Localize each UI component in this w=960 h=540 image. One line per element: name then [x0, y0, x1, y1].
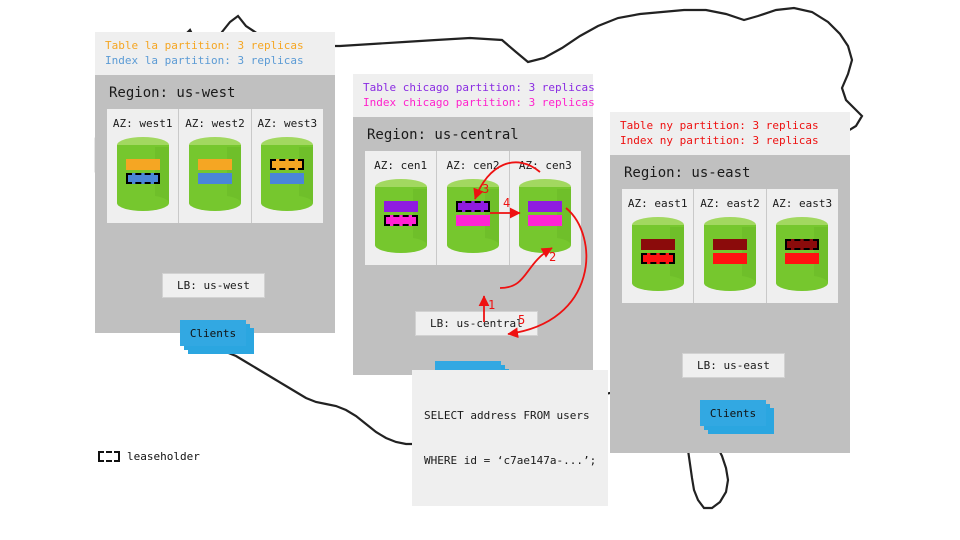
az-west1[interactable]: AZ: west1: [107, 109, 179, 223]
replica-table-west1: [126, 159, 160, 170]
az-east2-label: AZ: east2: [694, 197, 765, 210]
clients-us-west[interactable]: Clients: [180, 320, 246, 346]
az-east1-label: AZ: east1: [622, 197, 693, 210]
node-cen2[interactable]: [447, 179, 499, 253]
region-us-east-table-line: Table ny partition: 3 replicas: [620, 118, 840, 133]
replica-table-east3: [785, 239, 819, 250]
region-us-west-title: Region: us-west: [95, 75, 335, 109]
region-us-east-title: Region: us-east: [610, 155, 850, 189]
region-us-central: Table chicago partition: 3 replicas Inde…: [353, 74, 593, 375]
az-east2[interactable]: AZ: east2: [694, 189, 766, 303]
region-us-central-body: Region: us-central AZ: cen1 AZ: cen2: [353, 117, 593, 375]
replica-index-cen2: [456, 215, 490, 226]
flow-step-3-label: 3: [482, 182, 489, 196]
legend-leaseholder: leaseholder: [98, 450, 200, 463]
legend-leaseholder-label: leaseholder: [127, 450, 200, 463]
cylinder-bottom: [447, 237, 499, 253]
sql-line-1: SELECT address FROM users: [424, 408, 596, 423]
node-west3[interactable]: [261, 137, 313, 211]
cylinder-bottom: [261, 195, 313, 211]
az-cen3[interactable]: AZ: cen3: [510, 151, 581, 265]
region-us-east-index-line: Index ny partition: 3 replicas: [620, 133, 840, 148]
flow-step-5-label: 5: [518, 313, 525, 327]
replica-index-west2: [198, 173, 232, 184]
region-us-west-header: Table la partition: 3 replicas Index la …: [95, 32, 335, 75]
flow-step-4-label: 4: [503, 196, 510, 210]
cylinder-bottom: [375, 237, 427, 253]
clients-card-front: Clients: [700, 400, 766, 426]
replica-table-west3: [270, 159, 304, 170]
az-west2-label: AZ: west2: [179, 117, 250, 130]
az-east1[interactable]: AZ: east1: [622, 189, 694, 303]
az-west3-label: AZ: west3: [252, 117, 323, 130]
replica-table-east1: [641, 239, 675, 250]
region-us-east-body: Region: us-east AZ: east1 AZ: east2: [610, 155, 850, 453]
node-east2[interactable]: [704, 217, 756, 291]
region-us-central-header: Table chicago partition: 3 replicas Inde…: [353, 74, 593, 117]
replica-table-west2: [198, 159, 232, 170]
az-east3[interactable]: AZ: east3: [767, 189, 838, 303]
replica-index-west1: [126, 173, 160, 184]
az-west1-label: AZ: west1: [107, 117, 178, 130]
cylinder-bottom: [189, 195, 241, 211]
region-us-central-az-row: AZ: cen1 AZ: cen2: [365, 151, 581, 265]
cylinder-bottom: [117, 195, 169, 211]
node-east3[interactable]: [776, 217, 828, 291]
replica-table-cen2: [456, 201, 490, 212]
lb-us-east[interactable]: LB: us-east: [682, 353, 785, 378]
clients-card-front: Clients: [180, 320, 246, 346]
replica-index-cen1: [384, 215, 418, 226]
replica-index-east1: [641, 253, 675, 264]
az-cen1[interactable]: AZ: cen1: [365, 151, 437, 265]
az-cen2-label: AZ: cen2: [437, 159, 508, 172]
diagram-canvas: Table la partition: 3 replicas Index la …: [0, 0, 960, 540]
cylinder-bottom: [519, 237, 571, 253]
region-us-east-header: Table ny partition: 3 replicas Index ny …: [610, 112, 850, 155]
node-east1[interactable]: [632, 217, 684, 291]
flow-step-2-label: 2: [549, 250, 556, 264]
cylinder-bottom: [632, 275, 684, 291]
az-west2[interactable]: AZ: west2: [179, 109, 251, 223]
cylinder-bottom: [776, 275, 828, 291]
sql-query-box: SELECT address FROM users WHERE id = ‘c7…: [412, 370, 608, 506]
node-cen1[interactable]: [375, 179, 427, 253]
node-cen3[interactable]: [519, 179, 571, 253]
region-us-central-title: Region: us-central: [353, 117, 593, 151]
node-west2[interactable]: [189, 137, 241, 211]
node-west1[interactable]: [117, 137, 169, 211]
flow-step-1-label: 1: [488, 298, 495, 312]
region-us-west-body: Region: us-west AZ: west1 AZ: west2: [95, 75, 335, 333]
replica-index-cen3: [528, 215, 562, 226]
az-west3[interactable]: AZ: west3: [252, 109, 323, 223]
clients-us-east[interactable]: Clients: [700, 400, 766, 426]
region-us-west-index-line: Index la partition: 3 replicas: [105, 53, 325, 68]
replica-index-east2: [713, 253, 747, 264]
lb-us-west[interactable]: LB: us-west: [162, 273, 265, 298]
region-us-east-az-row: AZ: east1 AZ: east2: [622, 189, 838, 303]
region-us-central-index-line: Index chicago partition: 3 replicas: [363, 95, 583, 110]
replica-table-cen1: [384, 201, 418, 212]
leaseholder-swatch-icon: [98, 451, 120, 462]
az-east3-label: AZ: east3: [767, 197, 838, 210]
replica-index-east3: [785, 253, 819, 264]
replica-index-west3: [270, 173, 304, 184]
replica-table-east2: [713, 239, 747, 250]
region-us-central-table-line: Table chicago partition: 3 replicas: [363, 80, 583, 95]
az-cen2[interactable]: AZ: cen2: [437, 151, 509, 265]
cylinder-bottom: [704, 275, 756, 291]
az-cen1-label: AZ: cen1: [365, 159, 436, 172]
az-cen3-label: AZ: cen3: [510, 159, 581, 172]
region-us-west-table-line: Table la partition: 3 replicas: [105, 38, 325, 53]
region-us-west: Table la partition: 3 replicas Index la …: [95, 32, 335, 333]
sql-line-2: WHERE id = ‘c7ae147a-...’;: [424, 453, 596, 468]
region-us-east: Table ny partition: 3 replicas Index ny …: [610, 112, 850, 453]
replica-table-cen3: [528, 201, 562, 212]
region-us-west-az-row: AZ: west1 AZ: west2: [107, 109, 323, 223]
